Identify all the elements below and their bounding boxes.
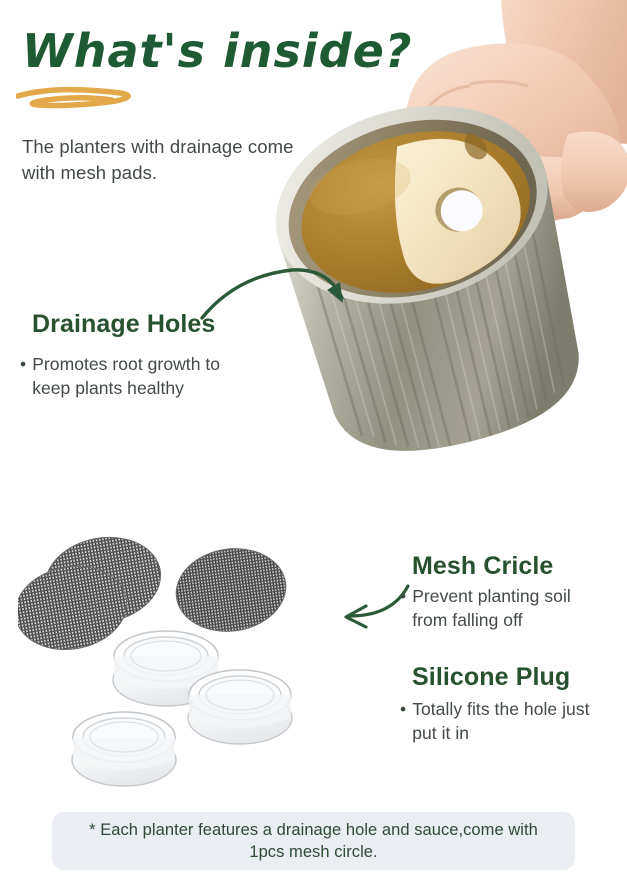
bullet-text: Totally fits the hole just put it in <box>412 697 615 745</box>
feature-bullets-silicone-plug: • Totally fits the hole just put it in <box>400 697 615 745</box>
feature-title-drainage-holes: Drainage Holes <box>32 310 215 339</box>
page-title: What's inside? <box>22 28 352 74</box>
bullet-text: Promotes root growth to keep plants heal… <box>32 352 260 400</box>
infographic-page: What's inside? The planters with drainag… <box>0 0 627 879</box>
parts-photo-svg <box>18 528 328 793</box>
mesh-circle <box>171 542 291 639</box>
silicone-plug <box>72 712 176 786</box>
feature-bullets-mesh-circle: • Prevent planting soil from falling off <box>400 584 605 632</box>
feature-bullets-drainage-holes: • Promotes root growth to keep plants he… <box>20 352 260 400</box>
bullet-dot-icon: • <box>20 352 26 400</box>
feature-title-mesh-circle: Mesh Cricle <box>412 552 553 581</box>
parts-photo <box>18 528 328 793</box>
footer-note-text: * Each planter features a drainage hole … <box>70 819 557 863</box>
silicone-plug <box>188 670 292 744</box>
bullet-item: • Totally fits the hole just put it in <box>400 697 615 745</box>
bullet-dot-icon: • <box>400 697 406 745</box>
arrow-to-drainage-hole-icon <box>196 256 366 326</box>
footer-note-box: * Each planter features a drainage hole … <box>52 812 575 870</box>
bullet-item: • Promotes root growth to keep plants he… <box>20 352 260 400</box>
title-underline-swoosh <box>16 86 146 112</box>
bullet-dot-icon: • <box>400 584 406 632</box>
bullet-text: Prevent planting soil from falling off <box>412 584 605 632</box>
feature-title-silicone-plug: Silicone Plug <box>412 663 570 692</box>
subtitle: The planters with drainage come with mes… <box>22 134 322 187</box>
bullet-item: • Prevent planting soil from falling off <box>400 584 605 632</box>
title-block: What's inside? <box>22 28 352 74</box>
